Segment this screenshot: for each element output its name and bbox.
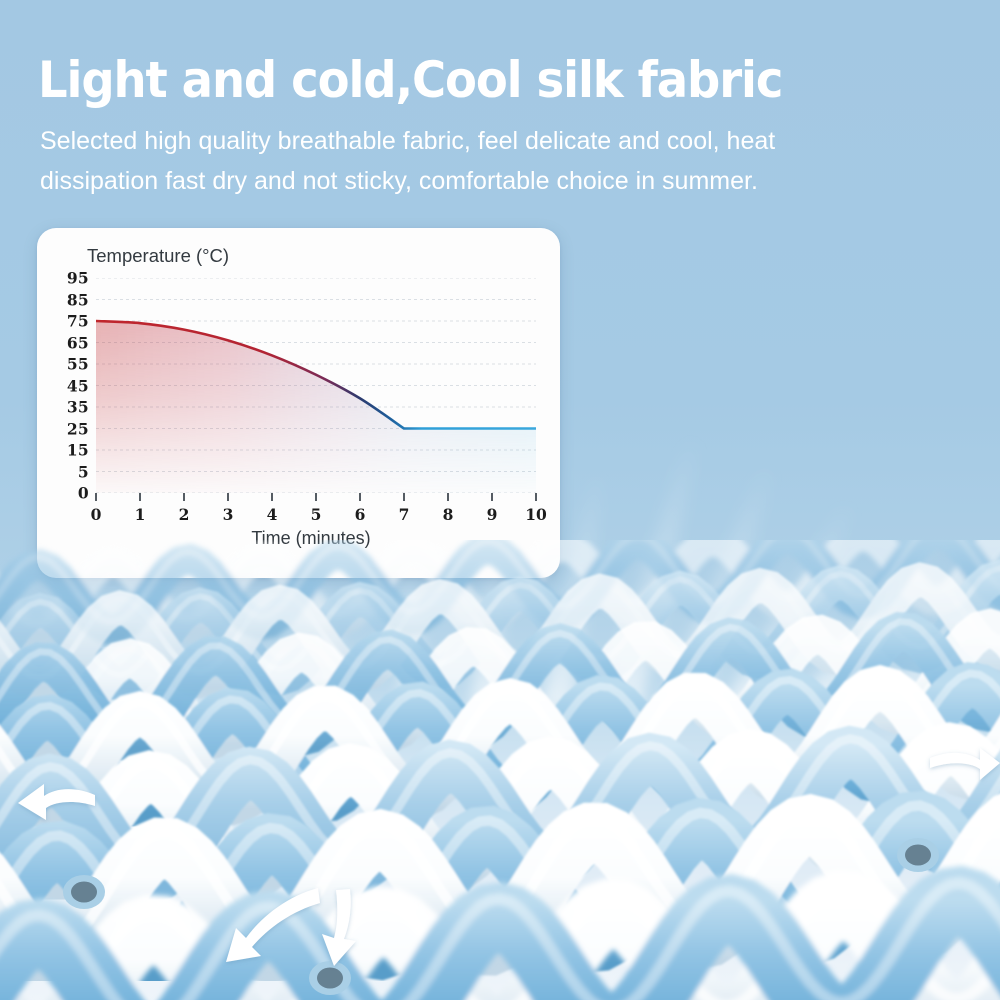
page-title: Light and cold,Cool silk fabric <box>38 52 856 108</box>
y-tick-label: 15 <box>67 441 89 460</box>
x-tick-label: 6 <box>355 505 366 524</box>
chart-plot-area <box>96 278 536 493</box>
x-tick-mark <box>95 493 97 501</box>
y-tick-label: 65 <box>67 333 89 352</box>
header-block: Light and cold,Cool silk fabric Selected… <box>38 52 918 201</box>
product-infographic: Light and cold,Cool silk fabric Selected… <box>0 0 1000 1000</box>
x-tick-mark <box>535 493 537 501</box>
x-tick-mark <box>491 493 493 501</box>
x-tick-label: 4 <box>267 505 278 524</box>
x-tick-label: 2 <box>179 505 190 524</box>
x-tick-mark <box>227 493 229 501</box>
y-tick-label: 35 <box>67 398 89 417</box>
x-tick-mark <box>359 493 361 501</box>
y-tick-label: 25 <box>67 419 89 438</box>
x-tick-mark <box>271 493 273 501</box>
x-tick-mark <box>183 493 185 501</box>
chart-y-axis-title: Temperature (°C) <box>87 245 229 267</box>
x-tick-label: 0 <box>91 505 102 524</box>
y-tick-label: 0 <box>78 484 89 503</box>
x-tick-label: 1 <box>135 505 146 524</box>
x-tick-label: 7 <box>399 505 410 524</box>
y-tick-label: 45 <box>67 376 89 395</box>
x-tick-mark <box>447 493 449 501</box>
y-tick-label: 55 <box>67 355 89 374</box>
chart-y-axis-labels: 95857565554535251550 <box>37 278 89 493</box>
y-tick-label: 5 <box>78 462 89 481</box>
airflow-arrows <box>0 700 1000 1000</box>
y-tick-label: 75 <box>67 312 89 331</box>
temperature-chart-card: Temperature (°C) 95857565554535251550 <box>37 228 560 578</box>
x-tick-label: 3 <box>223 505 234 524</box>
y-tick-label: 95 <box>67 269 89 288</box>
x-tick-label: 5 <box>311 505 322 524</box>
x-tick-mark <box>403 493 405 501</box>
x-tick-label: 10 <box>525 505 547 524</box>
x-tick-mark <box>139 493 141 501</box>
x-tick-mark <box>315 493 317 501</box>
y-tick-label: 85 <box>67 290 89 309</box>
page-subtitle: Selected high quality breathable fabric,… <box>40 121 870 201</box>
x-tick-label: 8 <box>443 505 454 524</box>
x-tick-label: 9 <box>487 505 498 524</box>
